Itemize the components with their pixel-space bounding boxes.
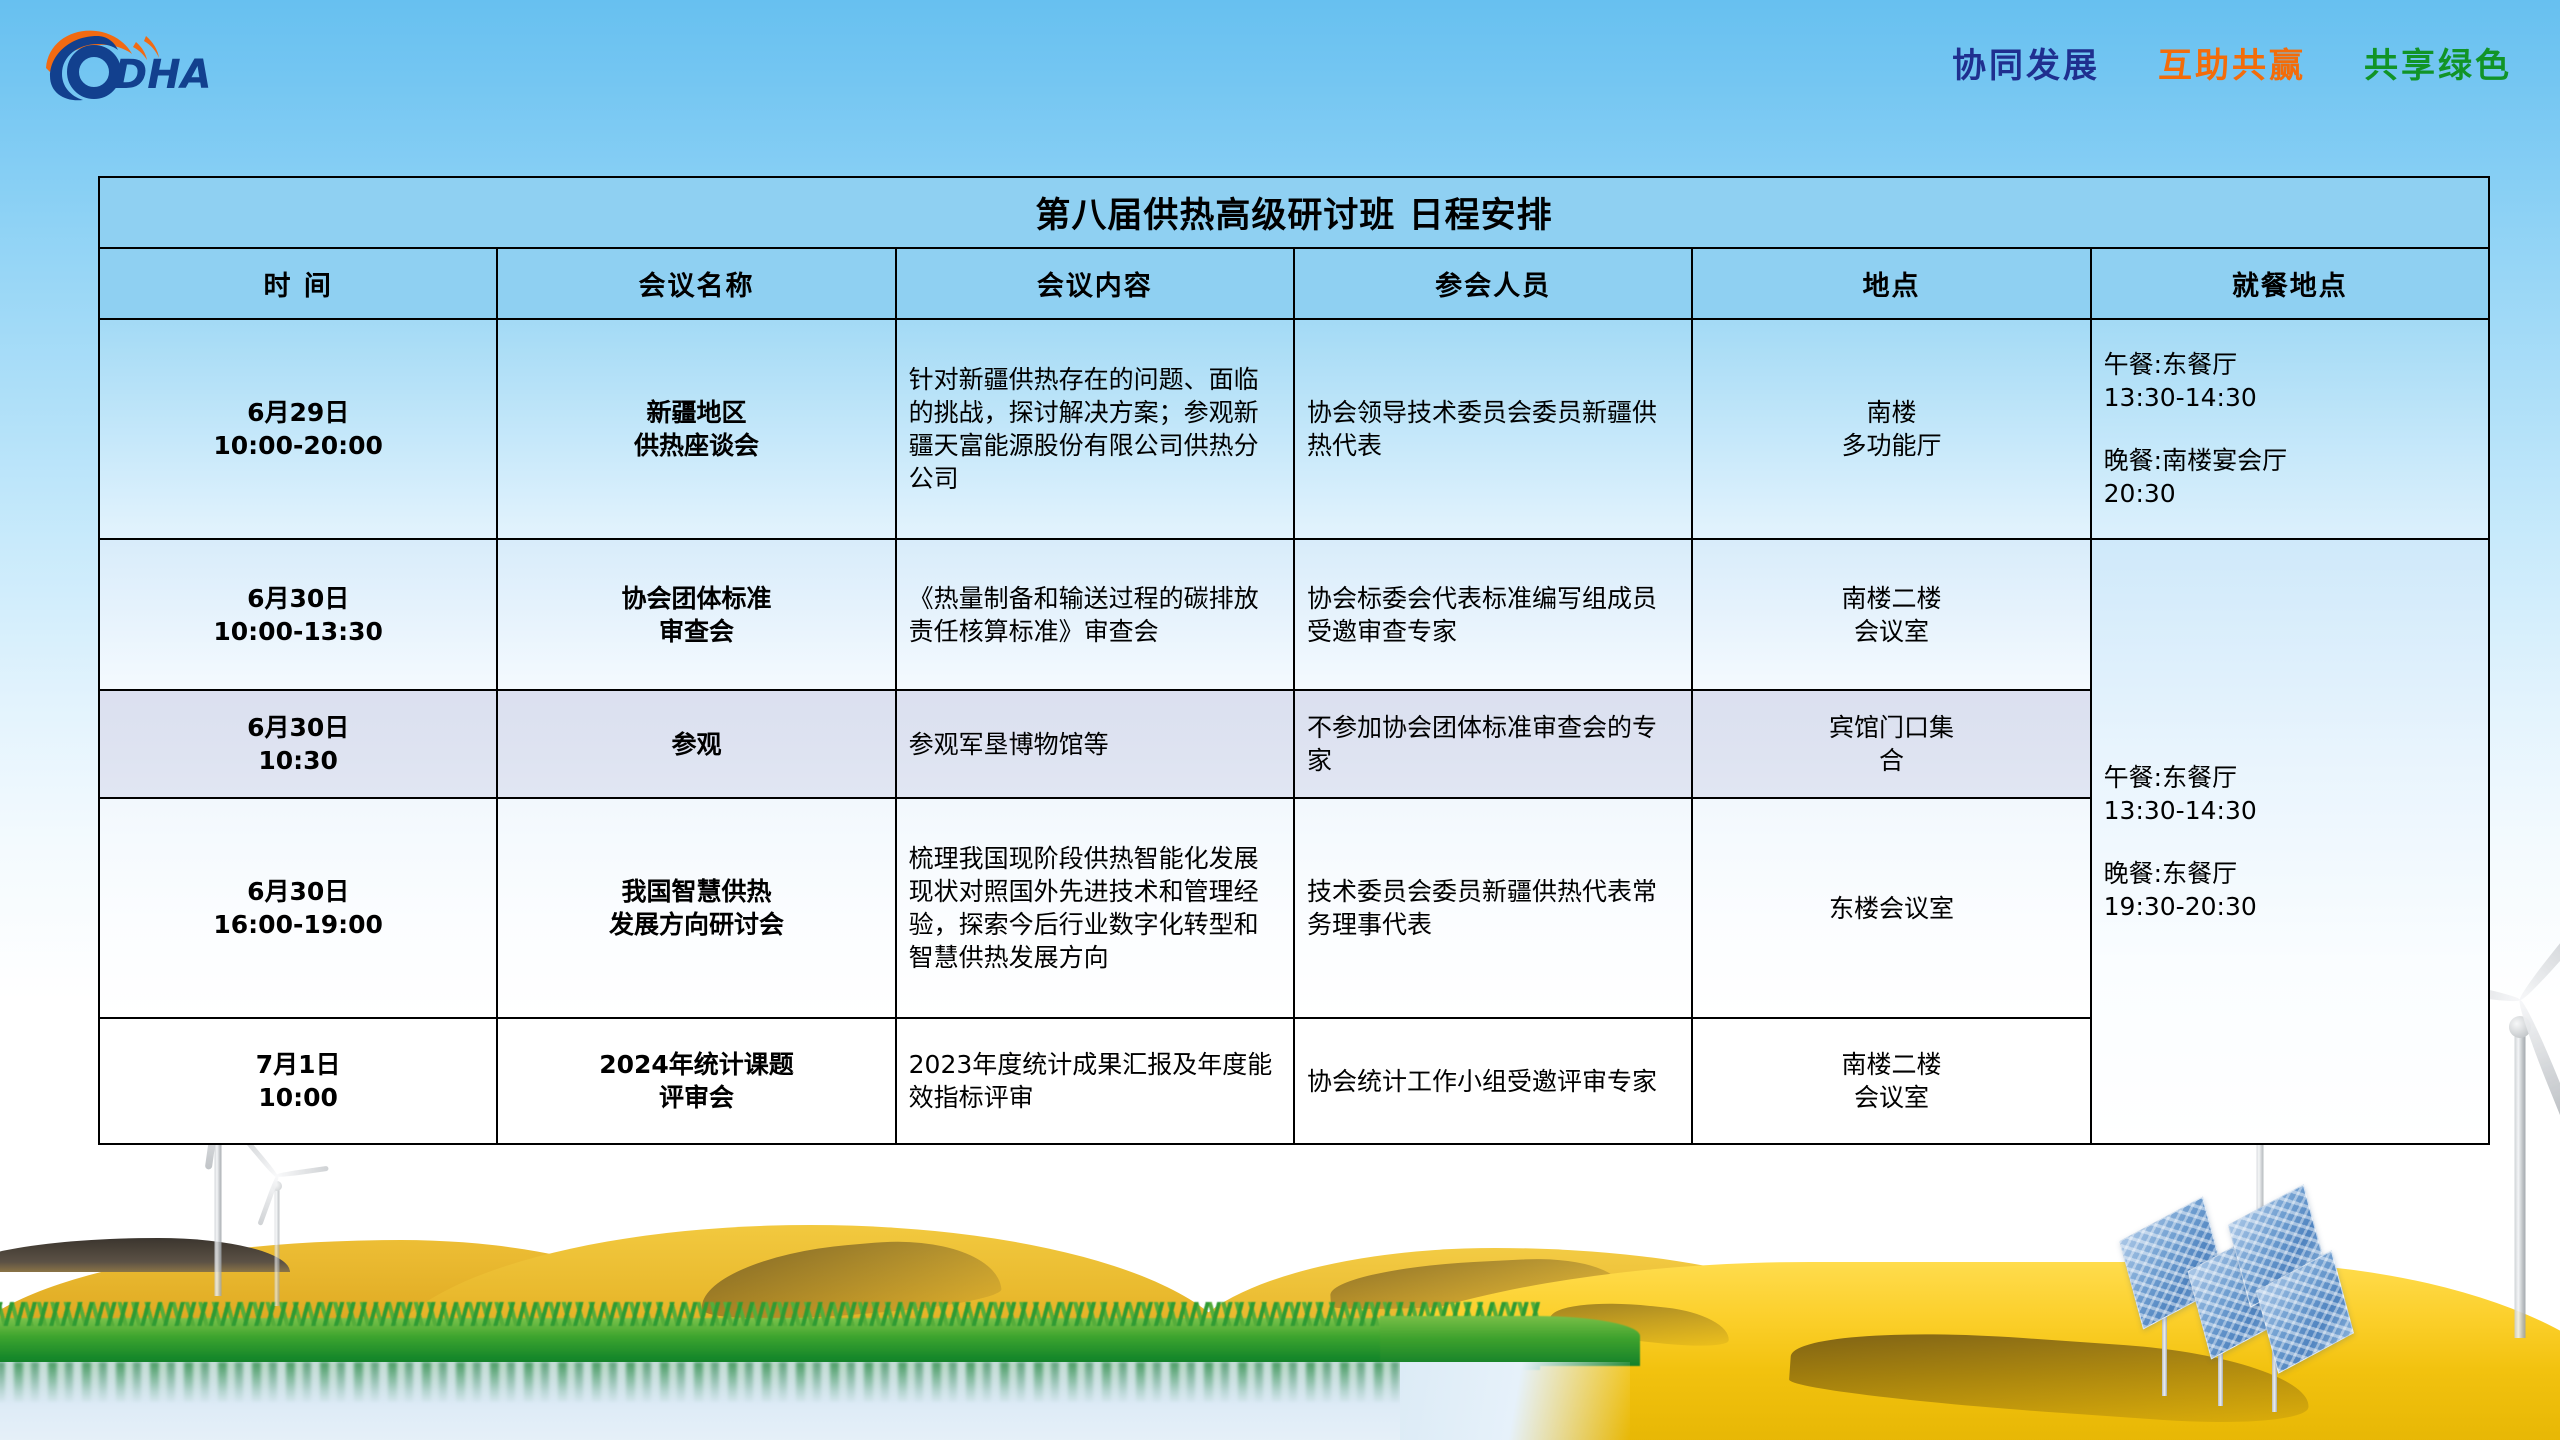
dining-lunch-label: 午餐:东餐厅	[2104, 761, 2476, 794]
cell-meeting-name: 2024年统计课题 评审会	[497, 1018, 895, 1144]
dining-spacer	[2104, 827, 2476, 857]
cell-time: 6月30日 16:00-19:00	[99, 798, 497, 1018]
schedule-table: 第八届供热高级研讨班 日程安排 时 间 会议名称 会议内容 参会人员 地点 就餐…	[98, 176, 2490, 1145]
time-line-2: 16:00-19:00	[112, 908, 484, 941]
dining-lunch-time: 13:30-14:30	[2104, 794, 2476, 827]
meeting-name-line-2: 审查会	[510, 615, 882, 648]
column-header-attendees: 参会人员	[1294, 248, 1692, 319]
slogan-2: 互助共赢	[2158, 38, 2306, 87]
column-header-time: 时 间	[99, 248, 497, 319]
column-header-meeting-name: 会议名称	[497, 248, 895, 319]
location-line-1: 宾馆门口集	[1705, 711, 2077, 744]
table-title-row: 第八届供热高级研讨班 日程安排	[99, 177, 2489, 248]
cell-meeting-name: 参观	[497, 690, 895, 798]
cell-meeting-name: 新疆地区 供热座谈会	[497, 319, 895, 539]
table-row: 6月30日 10:00-13:30 协会团体标准 审查会 《热量制备和输送过程的…	[99, 539, 2489, 690]
cell-location: 南楼 多功能厅	[1692, 319, 2090, 539]
location-line-1: 南楼	[1705, 396, 2077, 429]
meeting-name-line-1: 新疆地区	[510, 396, 882, 429]
cell-time: 6月30日 10:30	[99, 690, 497, 798]
green-vegetation-band-right	[1380, 1316, 1640, 1366]
time-line-2: 10:00-13:30	[112, 615, 484, 648]
table-header-row: 时 间 会议名称 会议内容 参会人员 地点 就餐地点	[99, 248, 2489, 319]
dining-dinner-label: 晚餐:东餐厅	[2104, 857, 2476, 890]
table-row: 6月29日 10:00-20:00 新疆地区 供热座谈会 针对新疆供热存在的问题…	[99, 319, 2489, 539]
solar-panel-icon-group	[2120, 1190, 2410, 1400]
time-line-1: 6月30日	[112, 711, 484, 744]
lake-water-reflection	[0, 1362, 1500, 1404]
cell-dining-location: 午餐:东餐厅 13:30-14:30 晚餐:南楼宴会厅 20:30	[2091, 319, 2489, 539]
location-line-2: 会议室	[1705, 1081, 2077, 1114]
cell-meeting-content: 2023年度统计成果汇报及年度能效指标评审	[896, 1018, 1294, 1144]
cell-attendees: 协会统计工作小组受邀评审专家	[1294, 1018, 1692, 1144]
dining-spacer	[2104, 414, 2476, 444]
meeting-name-line-2: 供热座谈会	[510, 429, 882, 462]
dining-lunch-label: 午餐:东餐厅	[2104, 348, 2476, 381]
location-line-2: 合	[1705, 744, 2077, 777]
time-line-1: 6月30日	[112, 875, 484, 908]
cell-attendees: 协会领导技术委员会委员新疆供热代表	[1294, 319, 1692, 539]
meeting-name-line-1: 参观	[510, 728, 882, 761]
dining-dinner-label: 晚餐:南楼宴会厅	[2104, 444, 2476, 477]
cell-location: 南楼二楼 会议室	[1692, 1018, 2090, 1144]
column-header-meeting-content: 会议内容	[896, 248, 1294, 319]
cell-time: 6月29日 10:00-20:00	[99, 319, 497, 539]
meeting-name-line-2: 发展方向研讨会	[510, 908, 882, 941]
cell-attendees: 不参加协会团体标准审查会的专家	[1294, 690, 1692, 798]
location-line-1: 南楼二楼	[1705, 582, 2077, 615]
meeting-name-line-1: 2024年统计课题	[510, 1048, 882, 1081]
location-line-2: 会议室	[1705, 615, 2077, 648]
time-line-1: 6月29日	[112, 396, 484, 429]
time-line-2: 10:30	[112, 744, 484, 777]
cell-attendees: 协会标委会代表标准编写组成员受邀审查专家	[1294, 539, 1692, 690]
column-header-location: 地点	[1692, 248, 2090, 319]
cell-meeting-name: 我国智慧供热 发展方向研讨会	[497, 798, 895, 1018]
cell-meeting-content: 针对新疆供热存在的问题、面临的挑战，探讨解决方案；参观新疆天富能源股份有限公司供…	[896, 319, 1294, 539]
cell-meeting-content: 参观军垦博物馆等	[896, 690, 1294, 798]
time-line-2: 10:00	[112, 1081, 484, 1114]
cell-meeting-name: 协会团体标准 审查会	[497, 539, 895, 690]
time-line-1: 7月1日	[112, 1048, 484, 1081]
location-line-2: 多功能厅	[1705, 429, 2077, 462]
cell-meeting-content: 《热量制备和输送过程的碳排放责任核算标准》审查会	[896, 539, 1294, 690]
meeting-name-line-1: 我国智慧供热	[510, 875, 882, 908]
dining-dinner-time: 19:30-20:30	[2104, 890, 2476, 923]
lake-water-right-edge	[1400, 1362, 1630, 1440]
wind-turbine-icon-2	[232, 1176, 322, 1306]
cell-time: 6月30日 10:00-13:30	[99, 539, 497, 690]
time-line-1: 6月30日	[112, 582, 484, 615]
slogan-1: 协同发展	[1952, 38, 2100, 87]
cdha-logo: DHA	[40, 22, 260, 102]
slogan-3: 共享绿色	[2364, 38, 2512, 87]
time-line-2: 10:00-20:00	[112, 429, 484, 462]
svg-text:DHA: DHA	[114, 52, 212, 98]
table-title: 第八届供热高级研讨班 日程安排	[99, 177, 2489, 248]
column-header-dining-location: 就餐地点	[2091, 248, 2489, 319]
dining-lunch-time: 13:30-14:30	[2104, 381, 2476, 414]
meeting-name-line-1: 协会团体标准	[510, 582, 882, 615]
location-line-1: 南楼二楼	[1705, 1048, 2077, 1081]
cell-meeting-content: 梳理我国现阶段供热智能化发展现状对照国外先进技术和管理经验，探索今后行业数字化转…	[896, 798, 1294, 1018]
cell-location: 宾馆门口集 合	[1692, 690, 2090, 798]
cell-location: 东楼会议室	[1692, 798, 2090, 1018]
cell-time: 7月1日 10:00	[99, 1018, 497, 1144]
location-line-1: 东楼会议室	[1705, 892, 2077, 925]
cell-dining-location-merged: 午餐:东餐厅 13:30-14:30 晚餐:东餐厅 19:30-20:30	[2091, 539, 2489, 1144]
meeting-name-line-2: 评审会	[510, 1081, 882, 1114]
dining-dinner-time: 20:30	[2104, 477, 2476, 510]
cell-location: 南楼二楼 会议室	[1692, 539, 2090, 690]
header-slogans: 协同发展 互助共赢 共享绿色	[1952, 38, 2512, 87]
cell-attendees: 技术委员会委员新疆供热代表常务理事代表	[1294, 798, 1692, 1018]
